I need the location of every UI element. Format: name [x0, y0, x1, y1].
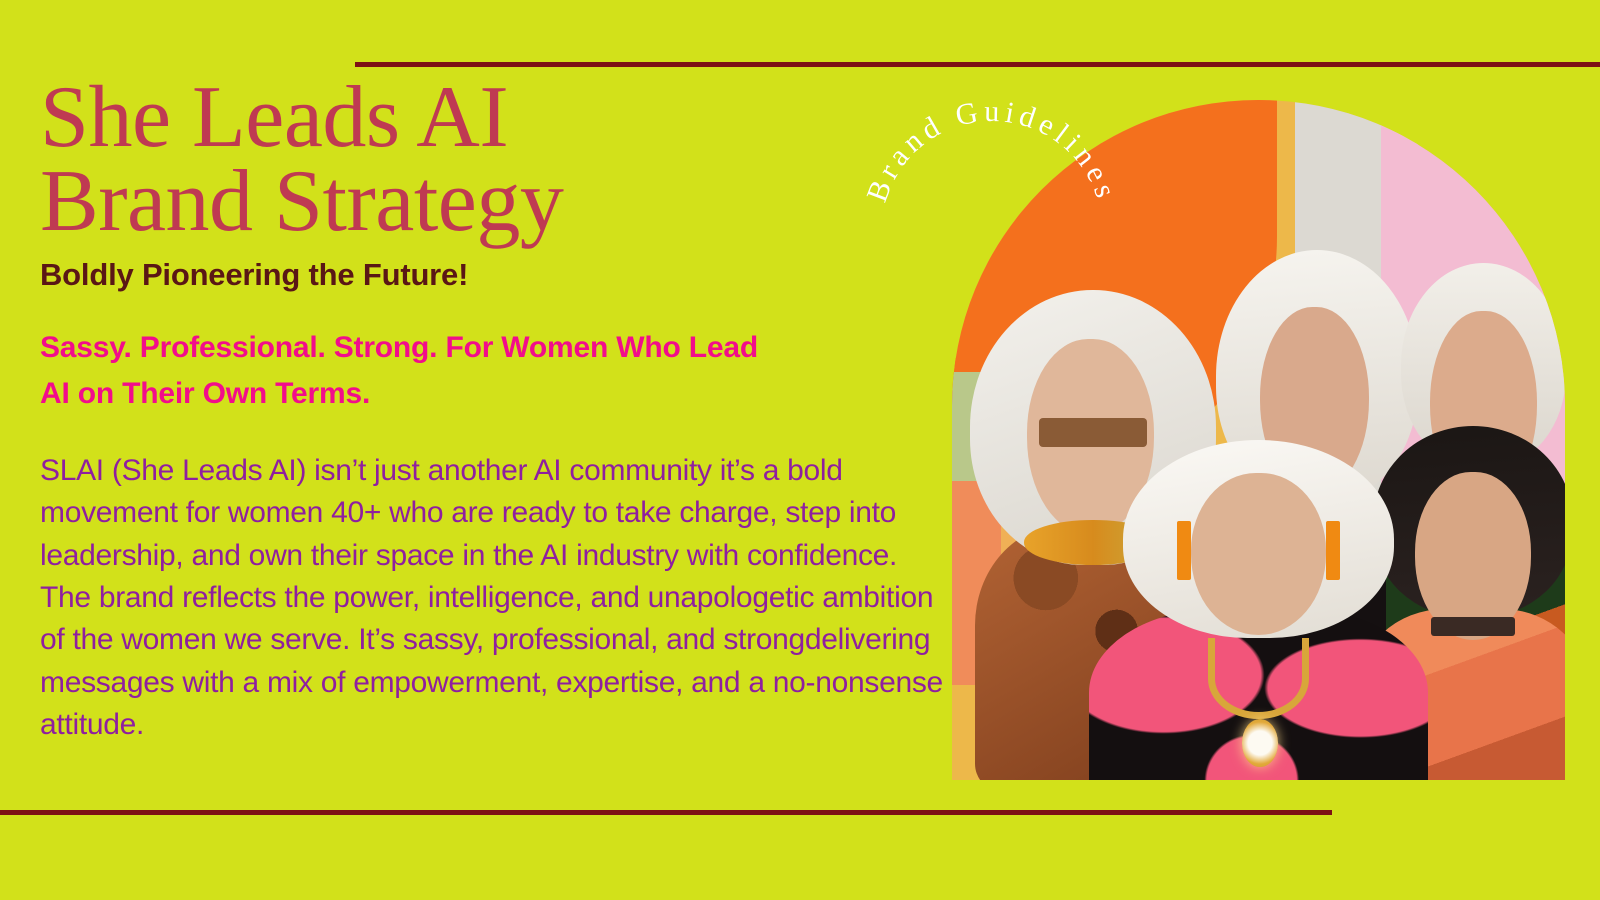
slide-canvas: She Leads AI Brand Strategy Boldly Pione… — [0, 0, 1600, 900]
figure-5-face — [1415, 472, 1532, 640]
hero-photo-arch — [952, 100, 1565, 780]
figure-4-earring-left — [1177, 521, 1191, 580]
top-divider-rule — [355, 62, 1600, 67]
figure-5-choker — [1431, 617, 1514, 636]
hero-photo-image — [952, 100, 1565, 780]
figure-4-gold-chain — [1208, 638, 1310, 719]
figure-woman-4 — [1118, 440, 1400, 780]
text-column: She Leads AI Brand Strategy Boldly Pione… — [40, 76, 940, 746]
brand-description: SLAI (She Leads AI) isn’t just another A… — [40, 450, 955, 746]
bottom-divider-rule — [0, 810, 1332, 815]
figure-4-face — [1191, 473, 1326, 635]
page-subtitle: Boldly Pioneering the Future! — [40, 257, 940, 293]
page-title: She Leads AI Brand Strategy — [40, 76, 940, 245]
brand-tagline: Sassy. Professional. Strong. For Women W… — [40, 325, 780, 416]
figure-4-earring-right — [1326, 521, 1340, 580]
figure-4-pendant — [1242, 719, 1279, 767]
